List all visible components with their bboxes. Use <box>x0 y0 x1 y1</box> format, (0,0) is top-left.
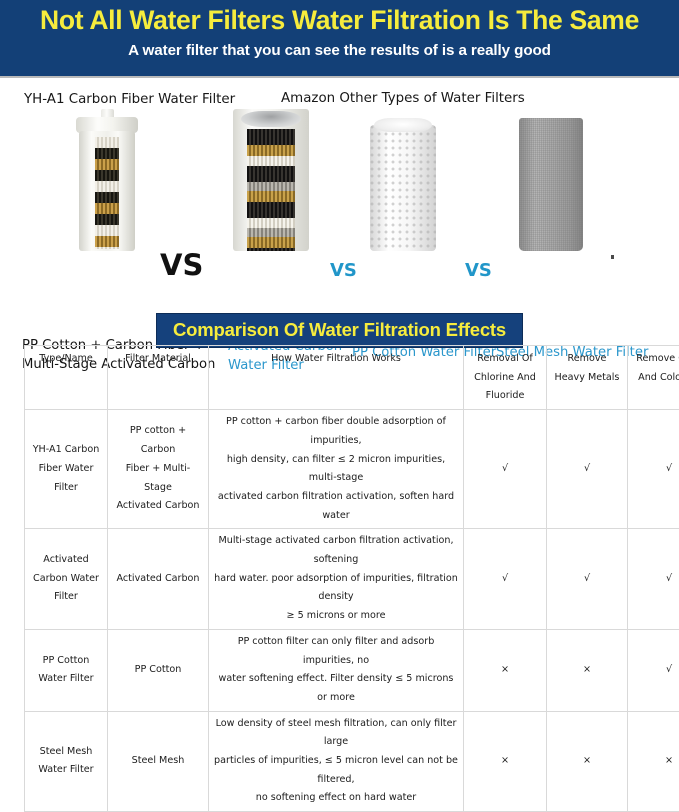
cell-line: PP Cotton <box>29 652 103 671</box>
filter-cylinder <box>519 118 583 251</box>
products-heading-left: YH-A1 Carbon Fiber Water Filter <box>24 92 235 107</box>
cell-line: Carbon Water <box>29 570 103 589</box>
cell-heavy-metals-mark: √ <box>547 529 628 630</box>
filter-media-window <box>95 137 119 249</box>
table-header-row: Type/Name Filter Material How Water Filt… <box>25 346 679 410</box>
table-row: PP Cotton Water Filter PP Cotton PP cott… <box>25 629 679 711</box>
cell-heavy-metals-mark: × <box>547 629 628 711</box>
cell-filter-material: Steel Mesh <box>108 711 209 812</box>
comparison-table: Type/Name Filter Material How Water Filt… <box>24 345 679 812</box>
column-header-remove-odor-coloring: Remove Odor And Coloring <box>628 346 679 410</box>
cell-line: Fiber Water <box>29 460 103 479</box>
header-line: Heavy Metals <box>551 369 623 388</box>
cell-line: YH-A1 Carbon <box>29 441 103 460</box>
cell-type-name: PP Cotton Water Filter <box>25 629 108 711</box>
cell-filter-material: PP cotton + Carbon Fiber + Multi-Stage A… <box>108 410 209 529</box>
cell-line: Activated Carbon <box>112 570 204 589</box>
cell-odor-mark: √ <box>628 410 679 529</box>
cell-how-it-works: Low density of steel mesh filtration, ca… <box>209 711 464 812</box>
cell-type-name: YH-A1 Carbon Fiber Water Filter <box>25 410 108 529</box>
cell-line: PP Cotton <box>112 661 204 680</box>
column-header-filter-material: Filter Material <box>108 346 209 410</box>
cell-type-name: Steel Mesh Water Filter <box>25 711 108 812</box>
cell-line: particles of impurities, ≤ 5 micron leve… <box>213 752 459 789</box>
cell-line: Steel Mesh <box>29 743 103 762</box>
cell-line: high density, can filter ≤ 2 micron impu… <box>213 451 459 488</box>
cell-line: PP cotton + carbon fiber double adsorpti… <box>213 413 459 450</box>
cell-line: Water Filter <box>29 761 103 780</box>
column-header-remove-heavy-metals: Remove Heavy Metals <box>547 346 628 410</box>
cell-chlorine-mark: × <box>464 629 547 711</box>
product-image-row <box>0 106 679 251</box>
filter-rim <box>241 111 301 127</box>
header-line: Remove Odor <box>632 350 679 369</box>
column-header-how-it-works: How Water Filtration Works <box>209 346 464 410</box>
cell-odor-mark: √ <box>628 529 679 630</box>
cell-how-it-works: PP cotton filter can only filter and ads… <box>209 629 464 711</box>
cell-line: PP cotton filter can only filter and ads… <box>213 633 459 670</box>
comparison-table-wrapper: Type/Name Filter Material How Water Filt… <box>24 345 656 812</box>
product-image-steel-mesh-filter <box>519 118 583 251</box>
comparison-banner-wrapper: Comparison Of Water Filtration Effects <box>0 313 679 348</box>
page-title: Not All Water Filters Water Filtration I… <box>40 5 639 35</box>
cell-line: Filter <box>29 588 103 607</box>
table-row: Activated Carbon Water Filter Activated … <box>25 529 679 630</box>
cell-chlorine-mark: √ <box>464 529 547 630</box>
cell-line: ≥ 5 microns or more <box>213 607 459 626</box>
cell-chlorine-mark: × <box>464 711 547 812</box>
cell-line: hard water. poor adsorption of impuritie… <box>213 570 459 607</box>
product-image-yh-a1-carbon-fiber-filter <box>76 109 138 251</box>
header-banner: Not All Water Filters Water Filtration I… <box>0 0 679 78</box>
cell-chlorine-mark: √ <box>464 410 547 529</box>
cell-odor-mark: × <box>628 711 679 812</box>
cell-line: Filter <box>29 479 103 498</box>
cell-how-it-works: Multi-stage activated carbon filtration … <box>209 529 464 630</box>
page-subtitle: A water filter that you can see the resu… <box>128 42 551 59</box>
cell-odor-mark: √ <box>628 629 679 711</box>
header-line: And Coloring <box>632 369 679 388</box>
table-row: YH-A1 Carbon Fiber Water Filter PP cotto… <box>25 410 679 529</box>
products-section: YH-A1 Carbon Fiber Water Filter Amazon O… <box>0 78 679 300</box>
cell-line: Low density of steel mesh filtration, ca… <box>213 715 459 752</box>
vs-separator-3: VS <box>465 260 492 281</box>
cell-line: PP cotton + Carbon <box>112 422 204 459</box>
cell-how-it-works: PP cotton + carbon fiber double adsorpti… <box>209 410 464 529</box>
cell-line: activated carbon filtration activation, … <box>213 488 459 525</box>
header-line: Fluoride <box>468 387 542 406</box>
vs-separator-2: VS <box>330 260 357 281</box>
cell-line: water softening effect. Filter density ≤… <box>213 670 459 707</box>
cell-heavy-metals-mark: × <box>547 711 628 812</box>
product-image-activated-carbon-filter <box>233 109 309 251</box>
column-header-removal-chlorine-fluoride: Removal Of Chlorine And Fluoride <box>464 346 547 410</box>
vs-separator-main: VS <box>160 248 203 282</box>
products-heading-right: Amazon Other Types of Water Filters <box>281 91 525 106</box>
filter-cylinder <box>370 125 436 251</box>
cell-line: Water Filter <box>29 670 103 689</box>
header-line: Remove <box>551 350 623 369</box>
filter-media-stack <box>247 129 295 251</box>
cell-filter-material: PP Cotton <box>108 629 209 711</box>
image-artifact-dot <box>611 255 614 259</box>
cell-line: Multi-stage activated carbon filtration … <box>213 532 459 569</box>
cell-line: Steel Mesh <box>112 752 204 771</box>
cell-line: no softening effect on hard water <box>213 789 459 808</box>
header-line: Chlorine And <box>468 369 542 388</box>
cell-line: Activated <box>29 551 103 570</box>
filter-top-rim <box>374 118 432 132</box>
cell-line: Activated Carbon <box>112 497 204 516</box>
header-line: Removal Of <box>468 350 542 369</box>
comparison-banner-title: Comparison Of Water Filtration Effects <box>156 313 523 348</box>
table-row: Steel Mesh Water Filter Steel Mesh Low d… <box>25 711 679 812</box>
cell-line: Fiber + Multi-Stage <box>112 460 204 497</box>
product-image-pp-cotton-filter <box>370 118 436 251</box>
column-header-type-name: Type/Name <box>25 346 108 410</box>
cell-filter-material: Activated Carbon <box>108 529 209 630</box>
cell-type-name: Activated Carbon Water Filter <box>25 529 108 630</box>
cell-heavy-metals-mark: √ <box>547 410 628 529</box>
